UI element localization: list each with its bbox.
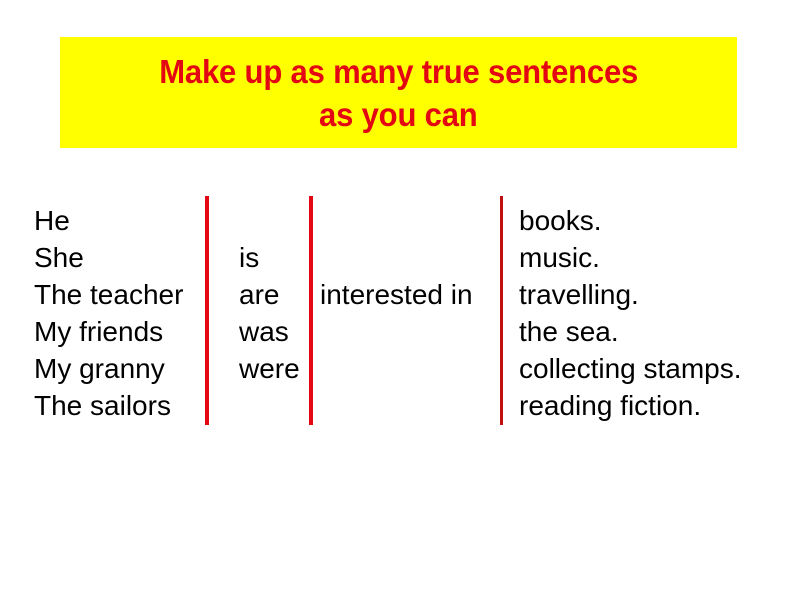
column-verbs: is are was were [239, 202, 300, 387]
phrase-cell: interested in [320, 276, 473, 313]
column-divider-1 [205, 196, 209, 425]
subject-cell: He [34, 202, 183, 239]
title-line-1: Make up as many true sentences [159, 50, 638, 93]
verb-cell: are [239, 276, 300, 313]
sentence-table: He She The teacher My friends My granny … [0, 190, 800, 435]
column-divider-2 [309, 196, 313, 425]
slide-canvas: Make up as many true sentences as you ca… [0, 0, 800, 600]
verb-cell: is [239, 239, 300, 276]
object-cell: collecting stamps. [519, 350, 742, 387]
verb-cell-spacer [239, 202, 300, 239]
verb-cell: was [239, 313, 300, 350]
subject-cell: The sailors [34, 387, 183, 424]
object-cell: travelling. [519, 276, 742, 313]
object-cell: books. [519, 202, 742, 239]
title-banner: Make up as many true sentences as you ca… [60, 37, 737, 148]
object-cell: music. [519, 239, 742, 276]
object-cell: the sea. [519, 313, 742, 350]
phrase-cell-spacer [320, 239, 473, 276]
column-subjects: He She The teacher My friends My granny … [34, 202, 183, 424]
column-divider-3 [500, 196, 503, 425]
subject-cell: She [34, 239, 183, 276]
subject-cell: My granny [34, 350, 183, 387]
subject-cell: My friends [34, 313, 183, 350]
title-line-2: as you can [319, 93, 477, 136]
column-objects: books. music. travelling. the sea. colle… [519, 202, 742, 424]
phrase-cell-spacer [320, 202, 473, 239]
verb-cell: were [239, 350, 300, 387]
subject-cell: The teacher [34, 276, 183, 313]
column-phrase: interested in [320, 202, 473, 313]
object-cell: reading fiction. [519, 387, 742, 424]
